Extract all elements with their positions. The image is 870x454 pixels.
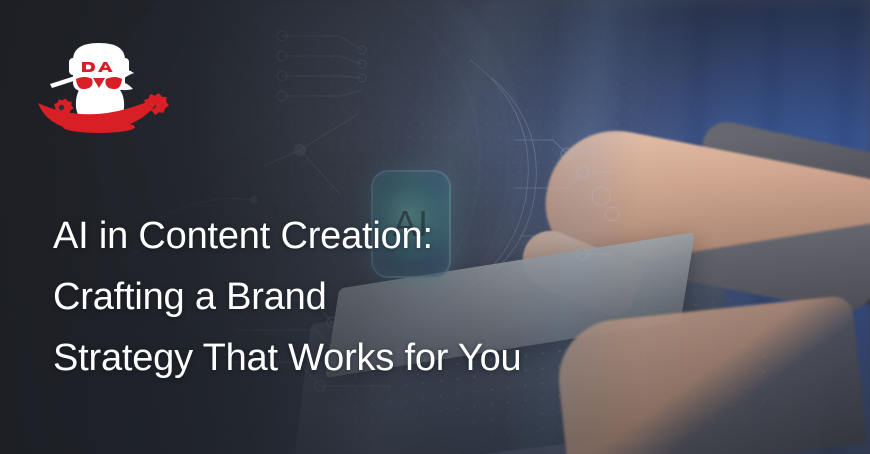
headline-line-2: Crafting a Brand — [53, 267, 693, 328]
mask-eyes-icon — [76, 77, 122, 89]
headband — [69, 58, 129, 75]
ninja-mascot-logo[interactable] — [24, 26, 174, 134]
blog-header-banner: AI — [0, 0, 870, 454]
headline-line-1: AI in Content Creation: — [53, 206, 693, 267]
headline-line-3: Strategy That Works for You — [53, 328, 693, 389]
red-base-ellipse — [63, 121, 135, 133]
page-title: AI in Content Creation: Crafting a Brand… — [53, 206, 693, 389]
